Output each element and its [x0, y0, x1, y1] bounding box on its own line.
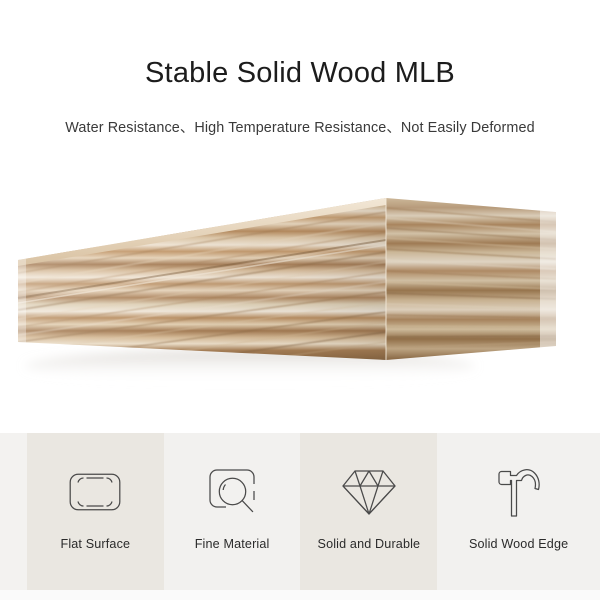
header-section: Stable Solid Wood MLB Water Resistance、H… — [0, 0, 600, 170]
magnifier-fine-material-icon — [202, 463, 262, 521]
strip-bottom-margin — [0, 590, 600, 600]
diamond-solid-durable-icon — [339, 463, 399, 521]
block-front-face — [18, 198, 386, 360]
feature-label-solid-durable: Solid and Durable — [318, 537, 421, 551]
right-edge-fade — [540, 190, 600, 370]
rounded-rectangle-flat-surface-icon — [65, 463, 125, 521]
feature-label-solid-wood-edge: Solid Wood Edge — [469, 537, 568, 551]
plywood-block-illustration — [0, 170, 600, 433]
strip-left-margin — [0, 433, 27, 590]
feature-panel-fine-material[interactable]: Fine Material — [164, 433, 301, 590]
feature-panel-solid-durable[interactable]: Solid and Durable — [300, 433, 437, 590]
block-side-face — [386, 198, 556, 360]
page-title: Stable Solid Wood MLB — [0, 56, 600, 91]
left-edge-fade — [0, 250, 26, 350]
hero-product-image — [0, 170, 600, 433]
feature-panel-flat-surface[interactable]: Flat Surface — [27, 433, 164, 590]
feature-label-flat-surface: Flat Surface — [60, 537, 130, 551]
hammer-solid-wood-edge-icon — [489, 463, 549, 521]
feature-strip: Flat Surface Fine Material — [0, 433, 600, 590]
feature-label-fine-material: Fine Material — [195, 537, 270, 551]
page-subtitle: Water Resistance、High Temperature Resist… — [0, 119, 600, 137]
feature-panel-solid-wood-edge[interactable]: Solid Wood Edge — [437, 433, 600, 590]
